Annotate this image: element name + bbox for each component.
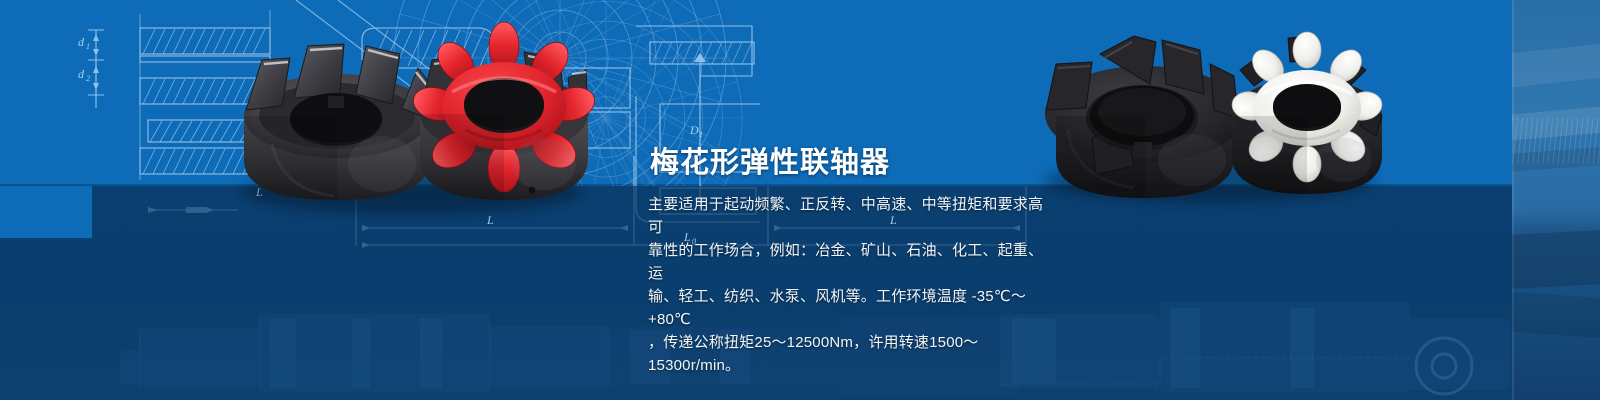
- page-title: 梅花形弹性联轴器: [650, 139, 890, 181]
- product-group-left: [232, 18, 592, 218]
- ghost-machinery-left: [120, 300, 680, 400]
- product-group-right: [1030, 10, 1390, 210]
- blueprint-label-D1: D: [689, 123, 699, 137]
- blueprint-label-d2: d: [78, 67, 85, 81]
- right-edge-machine-strip: [1512, 0, 1600, 400]
- description-line-4: ，传递公称扭矩25～12500Nm，许用转速1500～15300r/min。: [648, 331, 1052, 377]
- strip-shape-1: [1512, 42, 1600, 88]
- jaw-coupling-with-red-spider: [404, 18, 604, 214]
- jaw-coupling-with-white-spider: [1218, 24, 1396, 202]
- strip-shape-5: [1512, 292, 1600, 341]
- blueprint-label-d1: d: [78, 35, 85, 49]
- description-line-3: 输、轻工、纺织、水泵、风机等。工作环境温度 -35℃～+80℃: [648, 285, 1052, 331]
- description-line-2: 靠性的工作场合，例如：冶金、矿山、石油、化工、起重、运: [648, 239, 1052, 285]
- strip-shape-4: [1512, 229, 1600, 289]
- svg-text:1: 1: [699, 130, 703, 139]
- ghost-gear-right: [1408, 330, 1528, 400]
- product-banner: d 1 d 2 D D 1 L L L 0 L: [0, 0, 1600, 400]
- svg-text:2: 2: [86, 74, 90, 83]
- product-description: 主要适用于起动频繁、正反转、中高速、中等扭矩和要求高可 靠性的工作场合，例如：冶…: [648, 193, 1052, 377]
- svg-text:1: 1: [86, 42, 90, 51]
- description-line-1: 主要适用于起动频繁、正反转、中高速、中等扭矩和要求高可: [648, 193, 1052, 239]
